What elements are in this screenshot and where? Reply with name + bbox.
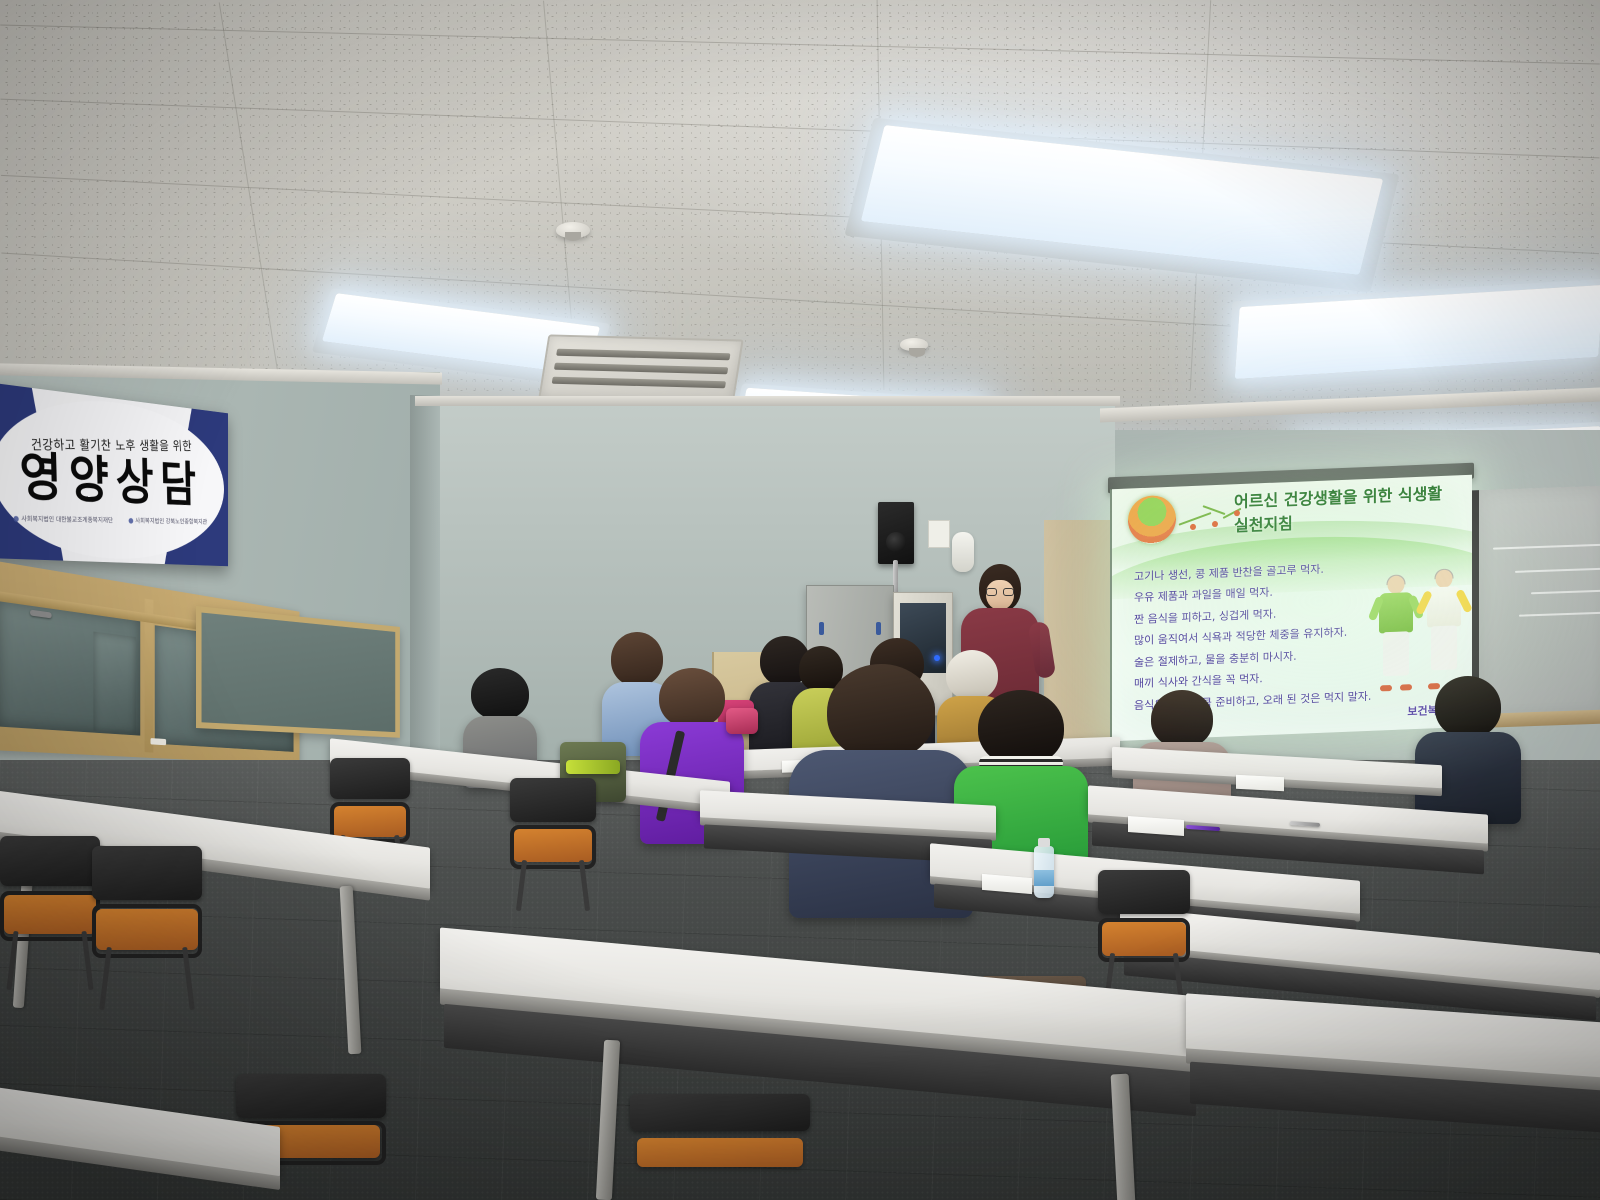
org-logo-icon	[13, 516, 18, 522]
banner-title: 영양상담	[19, 450, 203, 510]
brown-permed-hair	[659, 668, 725, 728]
cabinet-handle[interactable]	[819, 622, 824, 635]
bottle-cap	[1038, 838, 1050, 847]
attendee-dark-right	[1414, 676, 1522, 818]
legs	[1431, 625, 1457, 670]
illustration-man	[1374, 575, 1418, 689]
banner-organizations: 사회복지법인 대한불교조계종복지재단 사회복지법인 강북노인종합복지관	[13, 514, 207, 527]
event-banner: 건강하고 활기찬 노후 생활을 위한 영양상담 사회복지법인 대한불교조계종복지…	[0, 382, 228, 566]
slide-title: 어르신 건강생활을 위한 식생활실천지침	[1234, 481, 1464, 538]
wall-speaker	[878, 502, 914, 564]
black-permed-hair	[978, 690, 1064, 766]
chalkboard	[196, 606, 400, 738]
backpack-strap	[566, 760, 620, 774]
handout-paper	[1236, 775, 1284, 792]
elderly-couple-illustration	[1374, 557, 1466, 689]
head-icon	[1388, 575, 1405, 594]
shoe	[1400, 684, 1412, 690]
smoke-detector-icon	[556, 222, 590, 238]
shoe	[1380, 685, 1392, 691]
whiteboard-marking	[1493, 544, 1600, 550]
black-beanie	[471, 668, 529, 720]
banner-org-left: 사회복지법인 대한불교조계종복지재단	[21, 514, 113, 525]
banner-org-right: 사회복지법인 강북노인종합복지관	[135, 516, 207, 526]
chair[interactable]	[630, 1094, 810, 1200]
water-bottle	[1034, 846, 1054, 898]
chair[interactable]	[92, 846, 202, 1004]
handbag	[726, 708, 758, 734]
bottle-label	[1034, 870, 1054, 886]
head-icon	[1436, 570, 1453, 589]
whiteboard-marking	[1531, 590, 1600, 595]
eraser-icon	[150, 738, 166, 745]
illustration-woman	[1422, 569, 1466, 687]
chair[interactable]	[0, 836, 100, 984]
dark-curly-hair	[827, 664, 935, 760]
hair	[1435, 676, 1501, 738]
smoke-detector-icon	[900, 338, 928, 351]
window-pane	[93, 632, 135, 734]
eyeglasses-icon	[986, 588, 1014, 596]
chair[interactable]	[1098, 870, 1190, 1000]
wall-switch-plate[interactable]	[928, 520, 950, 548]
chair[interactable]	[510, 778, 596, 906]
whiteboard-marking	[1519, 612, 1600, 617]
classroom-photo: 건강하고 활기찬 노후 생활을 위한 영양상담 사회복지법인 대한불교조계종복지…	[0, 0, 1600, 1200]
hair	[1151, 690, 1213, 748]
legs	[1383, 631, 1409, 676]
air-conditioner-vent	[538, 334, 743, 403]
whiteboard-marking	[1515, 568, 1600, 573]
org-logo-icon	[128, 518, 133, 524]
ceiling-trim	[415, 396, 1120, 406]
cabinet-handle[interactable]	[876, 622, 881, 635]
